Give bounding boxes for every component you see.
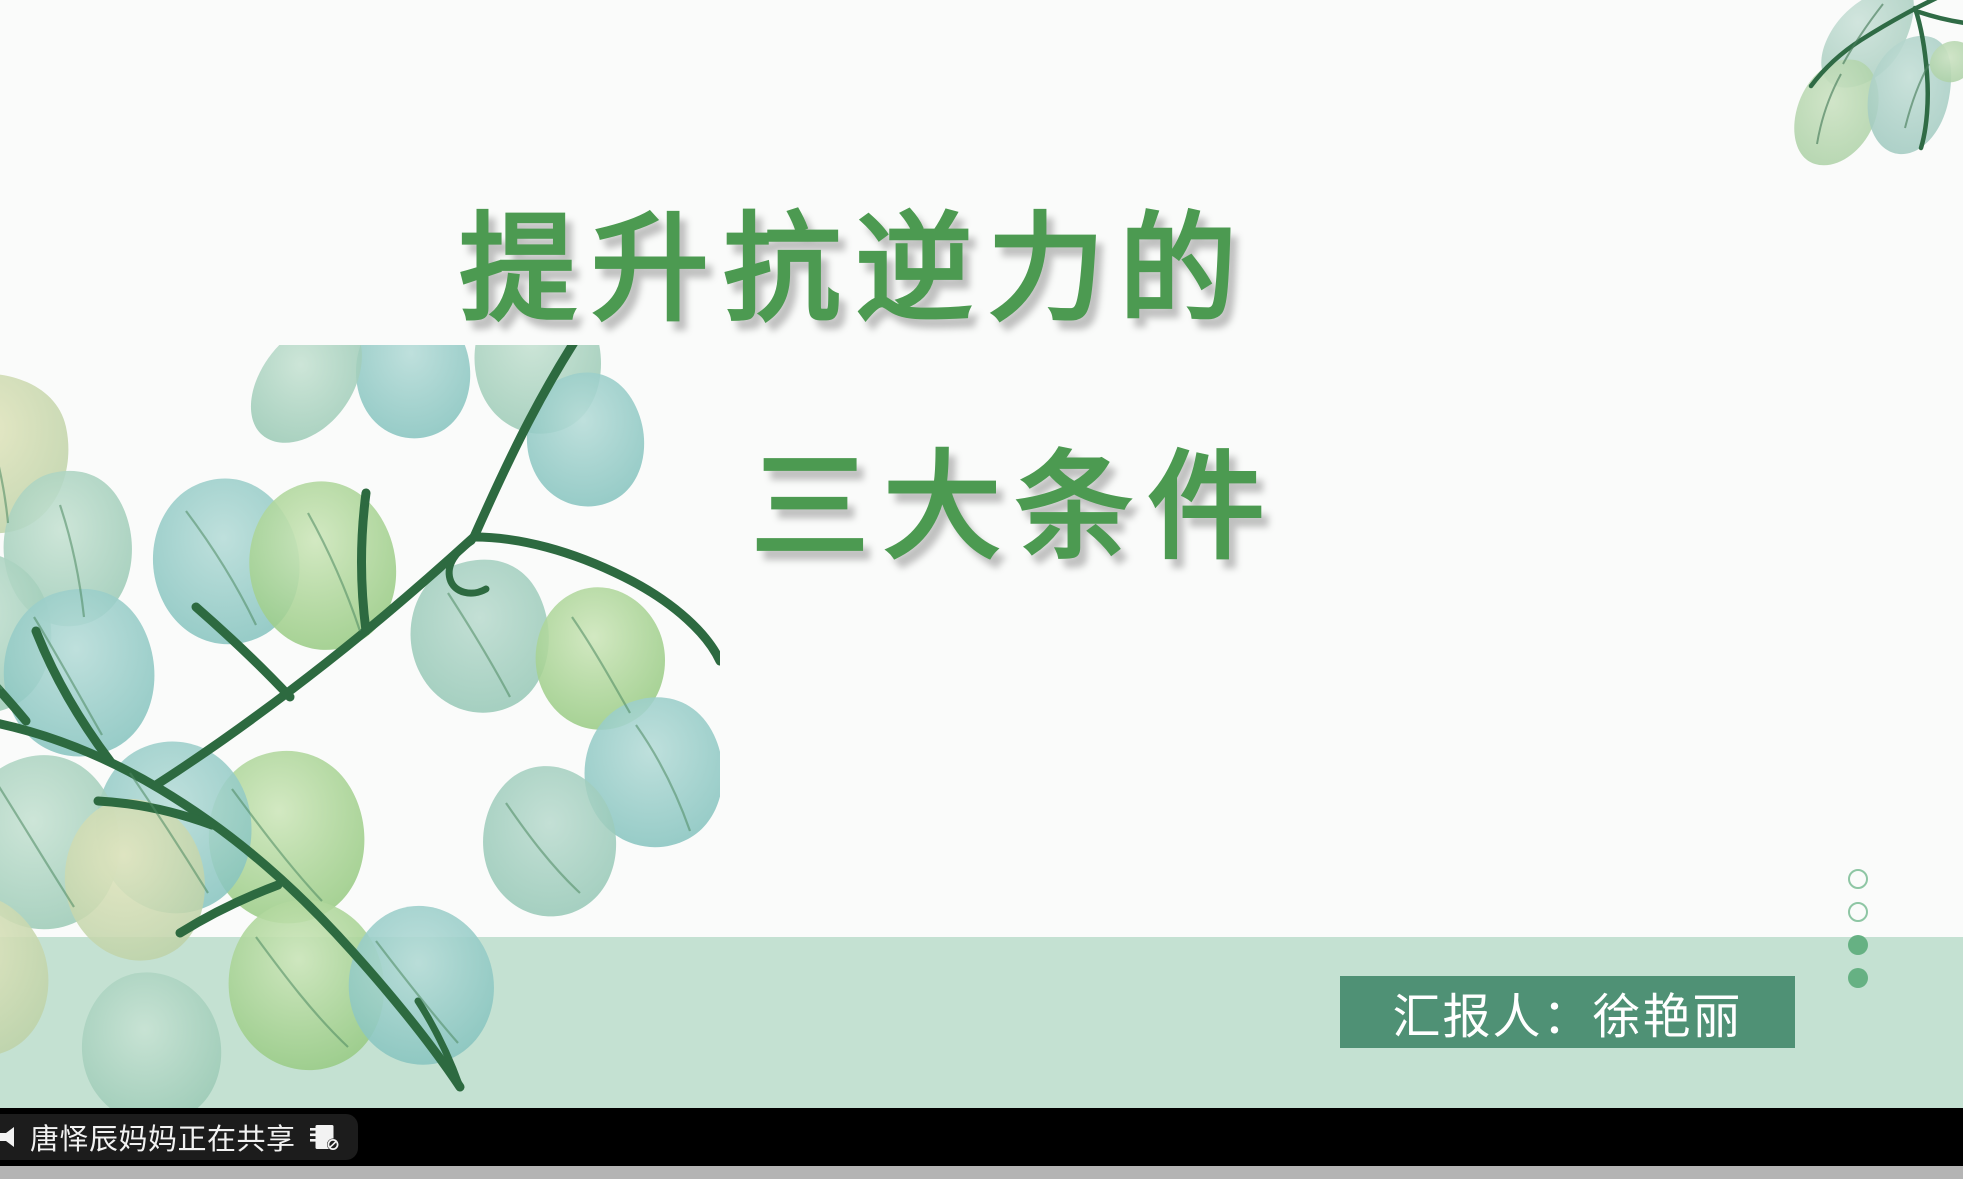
decor-dot-solid-1	[1848, 935, 1868, 955]
slide-title: 提升抗逆力的 三大条件	[0, 210, 1730, 566]
speaker-icon	[0, 1124, 16, 1150]
presenter-badge: 汇报人：徐艳丽	[1340, 976, 1795, 1048]
decor-dot-solid-2	[1848, 968, 1868, 988]
taskbar-strip	[0, 1166, 1963, 1179]
share-status-pill[interactable]: 唐怿辰妈妈正在共享	[0, 1114, 358, 1160]
presentation-slide: 提升抗逆力的 三大条件 汇报人：徐艳丽	[0, 0, 1963, 1108]
screen-share-bar: 唐怿辰妈妈正在共享	[0, 1108, 1963, 1166]
presenter-label: 汇报人：徐艳丽	[1392, 977, 1742, 1047]
slide-title-line-1: 提升抗逆力的	[0, 210, 1730, 328]
screen-root: 提升抗逆力的 三大条件 汇报人：徐艳丽 唐怿辰妈妈正在共享	[0, 0, 1963, 1179]
screen-share-icon[interactable]	[310, 1122, 340, 1152]
dot-decoration	[1848, 869, 1872, 1001]
eucalyptus-leaves-icon	[1643, 0, 1963, 193]
slide-title-line-2: 三大条件	[300, 448, 1730, 566]
share-status-text: 唐怿辰妈妈正在共享	[30, 1116, 296, 1158]
decor-dot-hollow-2	[1848, 902, 1868, 922]
decor-dot-hollow-1	[1848, 869, 1868, 889]
